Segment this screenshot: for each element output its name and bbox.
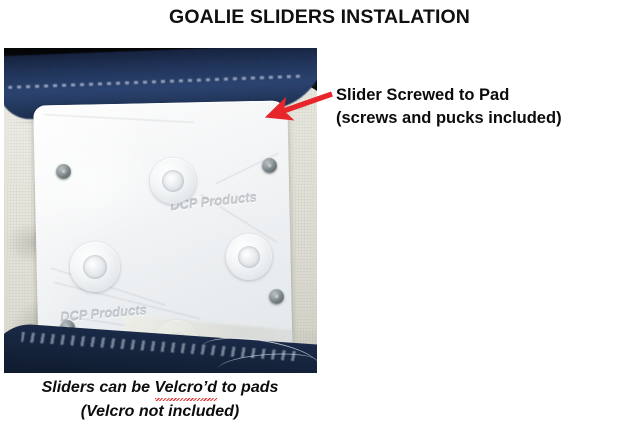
caption-line-1-suffix: to pads bbox=[217, 379, 278, 396]
slider-puck bbox=[150, 158, 196, 204]
red-arrow-icon bbox=[262, 88, 334, 128]
caption-line-1: Sliders can be Velcro’d to pads bbox=[0, 376, 320, 400]
callout-line-1: Slider Screwed to Pad bbox=[336, 84, 636, 107]
caption-line-2: (Velcro not included) bbox=[0, 400, 320, 424]
mounting-screw bbox=[269, 289, 284, 304]
mounting-screw bbox=[262, 158, 277, 173]
callout-line-2: (screws and pucks included) bbox=[336, 107, 636, 130]
slider-puck bbox=[226, 234, 272, 280]
photo-caption: Sliders can be Velcro’d to pads (Velcro … bbox=[0, 376, 320, 424]
caption-line-1-prefix: Sliders can be bbox=[42, 379, 155, 396]
mounting-screw bbox=[56, 164, 71, 179]
callout-text-block: Slider Screwed to Pad (screws and pucks … bbox=[336, 84, 636, 131]
slider-puck bbox=[70, 242, 120, 292]
caption-misspelled-word: Velcro’d bbox=[155, 376, 218, 400]
page-title: GOALIE SLIDERS INSTALATION bbox=[0, 6, 639, 29]
